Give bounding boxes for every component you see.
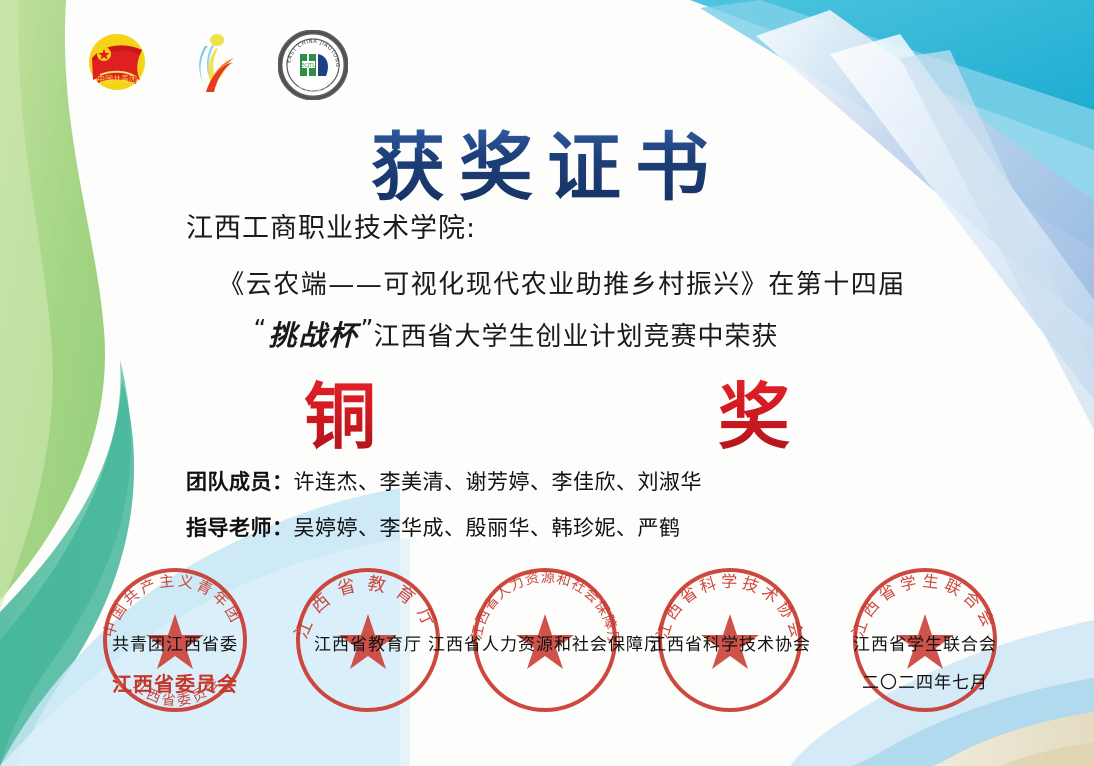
svg-text:ECJTU: ECJTU <box>301 63 316 69</box>
project-line: 《云农端——可视化现代农业助推乡村振兴》在第十四届 <box>0 264 1094 301</box>
challenge-cup-logo-icon <box>186 32 242 98</box>
award-level: 铜 奖 <box>238 358 856 463</box>
contest-line: “挑战杯”江西省大学生创业计划竞赛中荣获 <box>0 314 1094 354</box>
svg-text:中国共青团: 中国共青团 <box>97 74 137 84</box>
east-china-jiaotong-university-seal-icon: ECJTU EAST CHINA JIAOTONG UNIVERSITY 华东交… <box>278 30 348 104</box>
logo-row: 中国共青团 ECJTU <box>84 28 348 104</box>
certificate-title: 获奖证书 <box>0 108 1094 215</box>
contest-name: 江西省大学生创业计划竞赛中荣获 <box>373 322 778 352</box>
challenge-cup-name: 挑战杯 <box>266 319 360 352</box>
award-level-wrapper: 铜 奖 <box>0 358 1094 463</box>
salutation-line: 江西工商职业技术学院: <box>186 206 1094 245</box>
team-members-label: 团队成员： <box>186 470 294 494</box>
seal-jiangxi-communist-youth-league: 中国共产主义青年团 江西省委员会 共青团江西省委 江西省委员会 <box>95 560 255 720</box>
team-members-value: 许连杰、李美清、谢芳婷、李佳欣、刘淑华 <box>294 470 703 494</box>
seal-jiangxi-student-federation: 江西省学生联合会 江西省学生联合会 二〇二四年七月 <box>845 560 1005 720</box>
quote-open: “ <box>254 314 267 343</box>
advisors-line: 指导老师：吴婷婷、李华成、殷丽华、韩珍妮、严鹤 <box>186 512 702 542</box>
team-members-line: 团队成员：许连杰、李美清、谢芳婷、李佳欣、刘淑华 <box>186 466 702 496</box>
advisors-value: 吴婷婷、李华成、殷丽华、韩珍妮、严鹤 <box>294 516 681 540</box>
quote-close: ” <box>361 314 374 343</box>
advisors-label: 指导老师： <box>186 516 294 540</box>
seal-jiangxi-human-resources-social-security: 江西省人力资源和社会保障厅 江西省人力资源和社会保障厅 <box>465 560 625 720</box>
participants-block: 团队成员：许连杰、李美清、谢芳婷、李佳欣、刘淑华 指导老师：吴婷婷、李华成、殷丽… <box>186 466 702 558</box>
certificate-body: 江西工商职业技术学院: 《云农端——可视化现代农业助推乡村振兴》在第十四届 “挑… <box>0 206 1094 360</box>
communist-youth-league-emblem-icon: 中国共青团 <box>84 28 150 98</box>
seal-jiangxi-education-department: 江西省教育厅 江西省教育厅 <box>288 560 448 720</box>
seal-jiangxi-science-technology-association: 江西省科学技术协会 江西省科学技术协会 <box>650 560 810 720</box>
certificate-page: 中国共青团 ECJTU <box>0 0 1094 766</box>
seal-row: 中国共产主义青年团 江西省委员会 共青团江西省委 江西省委员会 江西省教育厅 江… <box>0 560 1094 730</box>
